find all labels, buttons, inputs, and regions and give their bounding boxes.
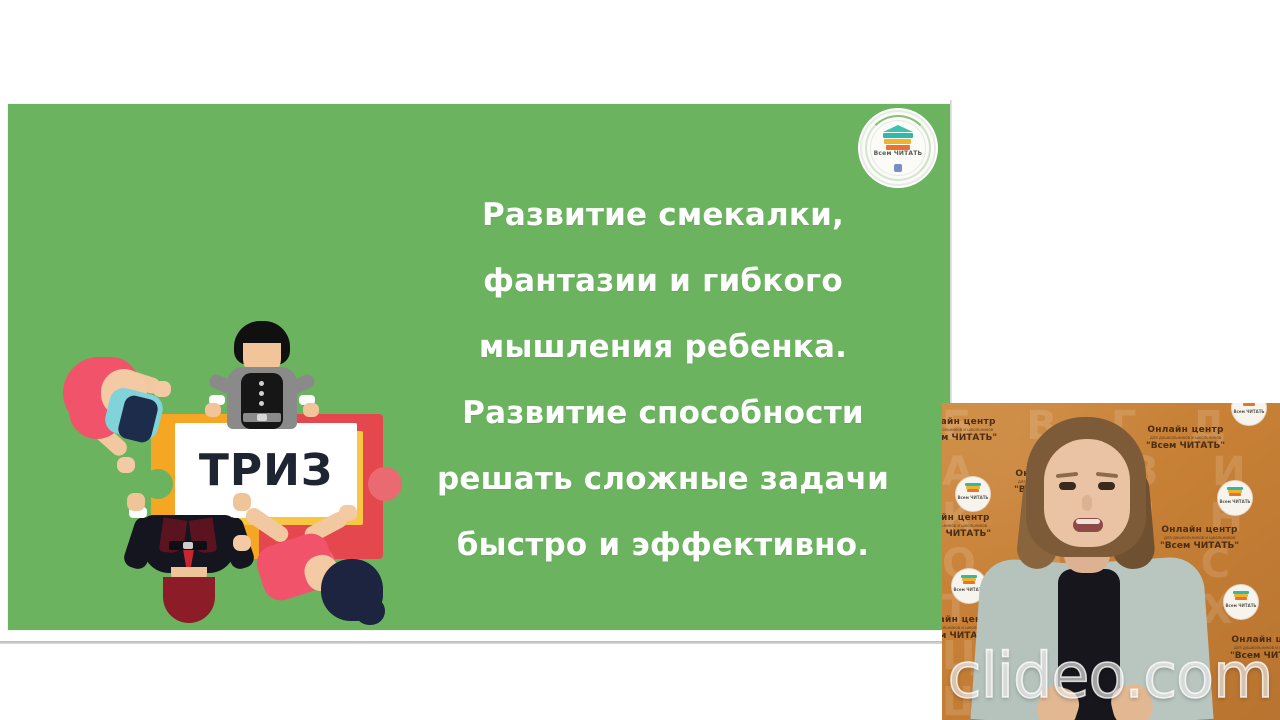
person-bl-buckle bbox=[183, 542, 193, 549]
person-left-hand-lower bbox=[117, 457, 135, 473]
presenter-teeth bbox=[1076, 519, 1100, 524]
backdrop-brand-block: Онлайн центр для дошкольников и школьник… bbox=[942, 417, 997, 443]
backdrop-brand-line2: для дошкольников и школьников bbox=[1160, 535, 1239, 540]
backdrop-brand-line1: Онлайн центр bbox=[942, 417, 997, 427]
backdrop-brand-line1: Онлайн центр bbox=[1160, 525, 1239, 535]
badge-title: Всем ЧИТАТЬ bbox=[862, 150, 934, 157]
slide-line-2: фантазии и гибкого bbox=[428, 248, 898, 314]
presenter-video-overlay[interactable]: Б В Г Д А Ж З И К Л М Н О П Р С Т У Ф Х … bbox=[942, 403, 1280, 720]
backdrop-logo-label: Всем ЧИТАТЬ bbox=[1224, 603, 1258, 608]
backdrop-brand-line2: для дошкольников и школьников bbox=[1146, 435, 1225, 440]
backdrop-brand-line1: Онлайн центр bbox=[1230, 635, 1280, 645]
books-icon bbox=[965, 483, 981, 492]
person-top-hand-left bbox=[205, 403, 221, 417]
backdrop-logo-label: Всем ЧИТАТЬ bbox=[1232, 409, 1266, 414]
backdrop-brand-line3: "Всем ЧИТАТЬ" bbox=[1230, 651, 1280, 661]
backdrop-logo-icon: Всем ЧИТАТЬ bbox=[1224, 585, 1258, 619]
books-icon bbox=[1227, 487, 1243, 496]
person-br-hand-upper bbox=[233, 535, 251, 551]
person-top bbox=[203, 321, 321, 436]
person-top-hand-right bbox=[303, 403, 319, 417]
slide-line-5: решать сложные задачи bbox=[428, 446, 898, 512]
presenter-nose bbox=[1082, 495, 1092, 511]
backdrop-brand-line1: Онлайн центр bbox=[942, 513, 991, 523]
backdrop-brand-line2: для дошкольников и школьников bbox=[942, 523, 991, 528]
slide-body-text: Развитие смекалки, фантазии и гибкого мы… bbox=[428, 182, 898, 578]
brand-logo-badge: Всем ЧИТАТЬ bbox=[862, 112, 934, 184]
backdrop-brand-block: Онлайн центр для дошкольников и школьник… bbox=[1160, 525, 1239, 551]
presenter-eye-right bbox=[1098, 482, 1115, 490]
book-cover-icon bbox=[883, 125, 913, 132]
backdrop-brand-line3: "Всем ЧИТАТЬ" bbox=[1146, 441, 1225, 451]
person-top-buckle bbox=[257, 414, 267, 421]
backdrop-logo-label: Всем ЧИТАТЬ bbox=[956, 495, 990, 500]
person-top-button-3 bbox=[259, 401, 264, 406]
books-icon bbox=[961, 575, 977, 584]
backdrop-logo-label: Всем ЧИТАТЬ bbox=[1218, 499, 1252, 504]
person-bl-hair bbox=[163, 577, 215, 623]
backdrop-brand-block: Онлайн центр для дошкольников и школьник… bbox=[942, 513, 991, 539]
person-br-hand-lower bbox=[339, 505, 357, 521]
person-top-button-2 bbox=[259, 391, 264, 396]
backdrop-brand-line3: "Всем ЧИТАТЬ" bbox=[942, 433, 997, 443]
books-icon bbox=[883, 125, 913, 151]
triz-label-text: ТРИЗ bbox=[199, 445, 333, 496]
presentation-slide: Всем ЧИТАТЬ ТРИЗ bbox=[8, 104, 950, 630]
book-orange-icon bbox=[963, 581, 975, 584]
person-left bbox=[63, 351, 183, 481]
book-orange-icon bbox=[1243, 403, 1255, 406]
slide-line-4: Развитие способности bbox=[428, 380, 898, 446]
backdrop-logo-icon: Всем ЧИТАТЬ bbox=[1218, 481, 1252, 515]
slide-line-3: мышления ребенка. bbox=[428, 314, 898, 380]
backdrop-brand-line2: для дошкольников и школьников bbox=[942, 427, 997, 432]
screen-canvas: Всем ЧИТАТЬ ТРИЗ bbox=[0, 0, 1280, 720]
books-icon bbox=[1233, 591, 1249, 600]
puzzle-knob-right bbox=[368, 467, 402, 501]
book-yellow-icon bbox=[884, 139, 911, 144]
slide-line-6: быстро и эффективно. bbox=[428, 512, 898, 578]
person-br-hair-bun bbox=[355, 597, 385, 625]
backdrop-logo-icon: Всем ЧИТАТЬ bbox=[956, 477, 990, 511]
backdrop-brand-line2: для дошкольников и школьников bbox=[1230, 645, 1280, 650]
slide-line-1: Развитие смекалки, bbox=[428, 182, 898, 248]
person-bottom-right bbox=[243, 531, 393, 630]
backdrop-brand-line3: "Всем ЧИТАТЬ" bbox=[942, 529, 991, 539]
book-orange-icon bbox=[1235, 597, 1247, 600]
person-bottom-left bbox=[121, 515, 257, 630]
person-top-button-1 bbox=[259, 381, 264, 386]
books-icon bbox=[1241, 403, 1257, 406]
book-teal-icon bbox=[883, 133, 913, 138]
person-left-hand-upper bbox=[153, 381, 171, 397]
triz-label-card: ТРИЗ bbox=[175, 423, 357, 517]
backdrop-brand-block: Онлайн центр для дошкольников и школьник… bbox=[1146, 425, 1225, 451]
book-orange-icon bbox=[967, 489, 979, 492]
backdrop-brand-line3: "Всем ЧИТАТЬ" bbox=[1160, 541, 1239, 551]
triz-teamwork-illustration: ТРИЗ bbox=[63, 319, 393, 630]
person-bl-hand-left bbox=[127, 493, 145, 511]
badge-mark-icon bbox=[894, 164, 902, 172]
presenter-eye-left bbox=[1059, 482, 1076, 490]
backdrop-brand-block: Онлайн центр для дошкольников и школьник… bbox=[1230, 635, 1280, 661]
book-orange-icon bbox=[1229, 493, 1241, 496]
backdrop-brand-line1: Онлайн центр bbox=[1146, 425, 1225, 435]
